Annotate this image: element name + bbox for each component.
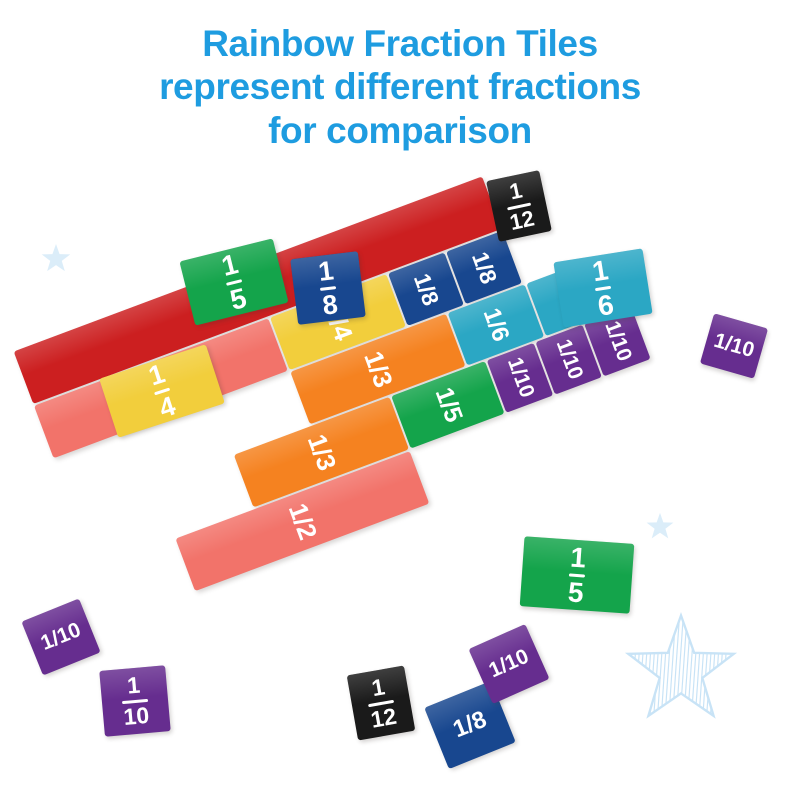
fraction-glyph-stacked: 14	[145, 360, 179, 423]
fraction-denominator: 4	[156, 392, 178, 422]
fraction-tile-1-10[interactable]: 110	[99, 665, 171, 737]
fraction-numerator: 1	[570, 543, 587, 571]
fraction-glyph-stacked: 110	[120, 673, 150, 728]
headline-line-1: Rainbow Fraction Tiles	[0, 22, 800, 65]
fraction-glyph-slashed: 1/3	[357, 347, 399, 392]
tile-label-rotator: 1/10	[599, 318, 636, 365]
sketch-star-small-icon	[645, 512, 675, 542]
fraction-denominator: 12	[369, 705, 398, 732]
fraction-glyph-slashed: 1/10	[485, 645, 532, 684]
headline-line-3: for comparison	[0, 109, 800, 152]
fraction-numerator: 1	[508, 180, 524, 204]
tile-label-rotator: 1/8	[466, 248, 502, 287]
fraction-denominator: 10	[123, 704, 150, 729]
fraction-glyph-slashed: 1/8	[449, 706, 490, 744]
fraction-numerator: 1	[145, 360, 167, 390]
fraction-glyph-stacked: 15	[219, 250, 250, 315]
fraction-glyph-slashed: 1/6	[477, 304, 515, 345]
fraction-numerator: 1	[590, 256, 610, 286]
fraction-tile-1-10[interactable]: 1/10	[21, 598, 100, 675]
fraction-denominator: 5	[567, 578, 584, 606]
fraction-glyph-slashed: 1/10	[711, 329, 757, 363]
fraction-tile-1-8[interactable]: 18	[290, 251, 366, 325]
headline-line-2: represent different fractions	[0, 65, 800, 108]
sketch-star-small-icon	[40, 243, 72, 275]
poster-canvas: Rainbow Fraction Tiles represent differe…	[0, 0, 800, 800]
fraction-tile-1-6[interactable]: 16	[553, 248, 652, 327]
fraction-glyph-slashed: 1/10	[599, 318, 636, 365]
tile-label-rotator: 1/2	[282, 499, 324, 544]
fraction-glyph-slashed: 1/10	[502, 355, 539, 402]
tile-label-rotator: 1/10	[502, 355, 539, 402]
fraction-numerator: 1	[219, 250, 241, 280]
fraction-glyph-slashed: 1/2	[282, 499, 324, 544]
tile-label-rotator: 1/3	[301, 430, 343, 475]
fraction-glyph-stacked: 16	[590, 256, 616, 321]
fraction-tile-1-10[interactable]: 1/10	[700, 313, 768, 378]
tile-label-rotator: 1/10	[550, 336, 587, 383]
fraction-glyph-slashed: 1/8	[408, 269, 444, 308]
fraction-glyph-stacked: 18	[316, 257, 339, 319]
fraction-tile-1-5[interactable]: 15	[520, 536, 635, 614]
sketch-star-large-icon	[622, 612, 740, 730]
tile-label-rotator: 1/3	[357, 347, 399, 392]
fraction-glyph-stacked: 15	[567, 543, 587, 607]
tile-label-rotator: 1/5	[428, 383, 467, 426]
fraction-numerator: 1	[126, 674, 141, 698]
fraction-numerator: 1	[317, 257, 335, 285]
fraction-tile-1-12[interactable]: 112	[486, 170, 552, 242]
fraction-denominator: 8	[321, 291, 339, 319]
fraction-glyph-stacked: 112	[364, 675, 398, 732]
fraction-glyph-slashed: 1/3	[301, 430, 343, 475]
page-title: Rainbow Fraction Tiles represent differe…	[0, 22, 800, 152]
fraction-glyph-stacked: 112	[502, 178, 537, 233]
fraction-denominator: 6	[596, 291, 616, 321]
fraction-numerator: 1	[370, 676, 387, 700]
fraction-glyph-slashed: 1/8	[466, 248, 502, 287]
fraction-glyph-slashed: 1/10	[38, 618, 85, 656]
fraction-denominator: 12	[508, 207, 536, 233]
tile-label-rotator: 1/8	[408, 269, 444, 308]
fraction-glyph-slashed: 1/10	[550, 336, 587, 383]
fraction-glyph-slashed: 1/5	[428, 383, 467, 426]
fraction-tile-1-12[interactable]: 112	[347, 665, 416, 740]
fraction-denominator: 5	[227, 284, 249, 314]
tile-label-rotator: 1/6	[477, 304, 515, 345]
